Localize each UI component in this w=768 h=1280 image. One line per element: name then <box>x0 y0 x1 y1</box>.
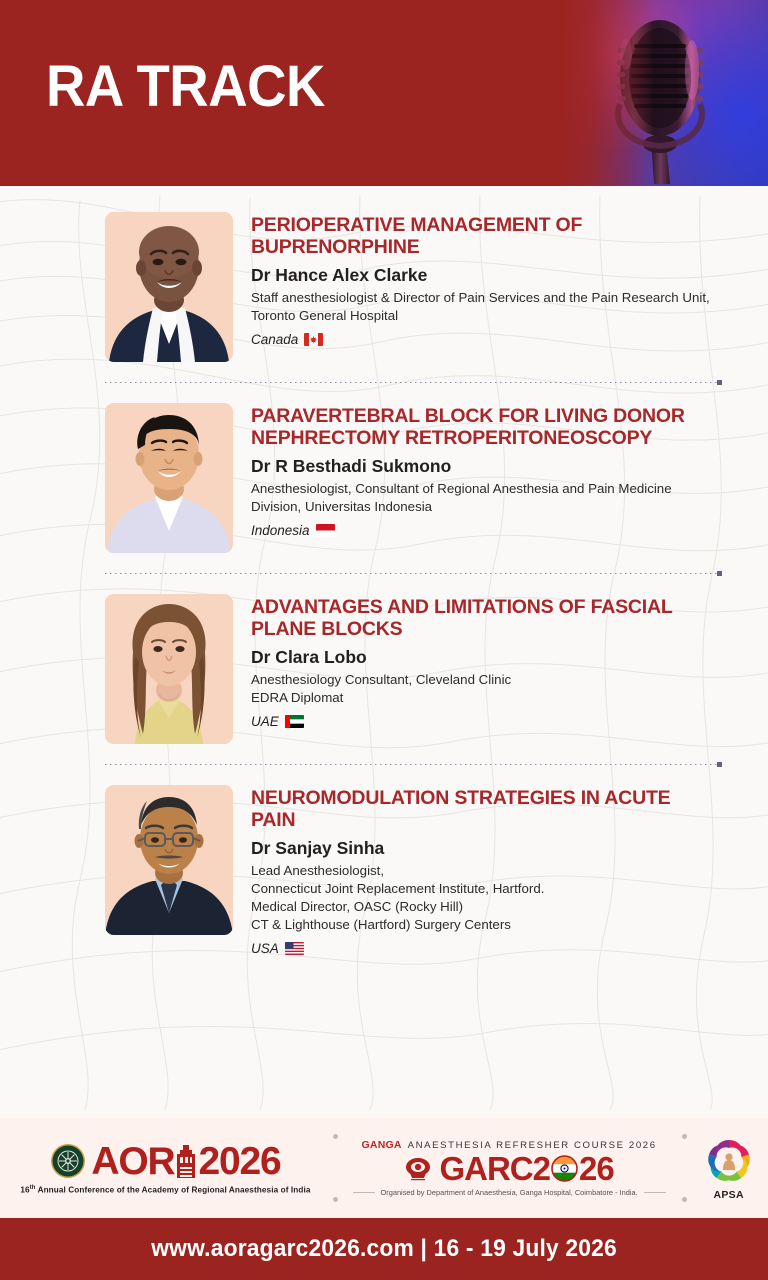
speaker-card: NEUROMODULATION STRATEGIES IN ACUTE PAIN… <box>0 785 768 956</box>
footer-url-bar: www.aoragarc2026.com | 16 - 19 July 2026 <box>0 1218 768 1280</box>
talk-title: NEUROMODULATION STRATEGIES IN ACUTE PAIN <box>251 787 720 831</box>
speaker-info: PARAVERTEBRAL BLOCK FOR LIVING DONOR NEP… <box>233 403 720 553</box>
garc-rule-right <box>644 1192 666 1193</box>
garc-wordmark-part1: GARC2 <box>439 1152 550 1185</box>
speaker-affiliation: Lead Anesthesiologist,Connecticut Joint … <box>251 862 720 933</box>
speaker-affiliation: Staff anesthesiologist & Director of Pai… <box>251 289 720 325</box>
aora-wordmark-part1: AOR <box>91 1142 174 1181</box>
garc-wordmark-part2: 26 <box>579 1152 614 1185</box>
microphone-icon <box>596 8 726 186</box>
country-label: USA <box>251 941 279 956</box>
speaker-country: UAE <box>251 714 720 729</box>
garc-tagline: ANAESTHESIA REFRESHER COURSE 2026 <box>408 1140 657 1151</box>
country-label: Canada <box>251 332 298 347</box>
avatar <box>105 785 233 935</box>
speaker-name: Dr Sanjay Sinha <box>251 838 720 860</box>
aora-wordmark-part2: 2026 <box>198 1142 280 1181</box>
aora-subtitle: 16th Annual Conference of the Academy of… <box>20 1185 310 1195</box>
avatar <box>105 403 233 553</box>
apsa-label: APSA <box>714 1189 744 1201</box>
speaker-affiliation: Anesthesiologist, Consultant of Regional… <box>251 480 720 516</box>
apsa-swirl-logo-icon <box>704 1136 754 1186</box>
footer-url-text: www.aoragarc2026.com | 16 - 19 July 2026 <box>151 1235 617 1263</box>
aora-seal-emblem-icon <box>50 1143 86 1179</box>
aora-wordmark: AOR 2026 <box>91 1142 280 1181</box>
section-divider <box>105 764 720 765</box>
ganga-word: GANGA <box>362 1139 402 1151</box>
aora-subtitle-text: Annual Conference of the Academy of Regi… <box>36 1185 311 1194</box>
speaker-name: Dr R Besthadi Sukmono <box>251 456 720 478</box>
aora-logo: AOR 2026 16th Annual Conf <box>0 1142 325 1195</box>
speaker-list: PERIOPERATIVE MANAGEMENT OF BUPRENORPHIN… <box>0 186 768 956</box>
header-banner: RA TRACK <box>0 0 768 186</box>
speaker-portrait-3 <box>105 594 233 744</box>
usa-flag-icon <box>285 942 304 955</box>
garc-logo: GANGA ANAESTHESIA REFRESHER COURSE 2026 … <box>345 1139 674 1197</box>
speaker-name: Dr Clara Lobo <box>251 647 720 669</box>
speaker-portrait-4 <box>105 785 233 935</box>
uae-flag-icon <box>285 715 304 728</box>
speaker-country: USA <box>251 941 720 956</box>
section-divider <box>105 573 720 574</box>
avatar <box>105 212 233 362</box>
speaker-card: ADVANTAGES AND LIMITATIONS OF FASCIAL PL… <box>0 594 768 744</box>
canada-flag-icon <box>304 333 323 346</box>
speaker-card: PARAVERTEBRAL BLOCK FOR LIVING DONOR NEP… <box>0 403 768 553</box>
country-label: Indonesia <box>251 523 310 538</box>
apsa-logo: APSA <box>694 1136 768 1201</box>
speaker-name: Dr Hance Alex Clarke <box>251 265 720 287</box>
speaker-portrait-1 <box>105 212 233 362</box>
garc-organised-by: Organised by Department of Anaesthesia, … <box>381 1188 638 1197</box>
avatar <box>105 594 233 744</box>
country-label: UAE <box>251 714 279 729</box>
garc-wordmark: GARC2 26 <box>439 1152 613 1185</box>
talk-title: ADVANTAGES AND LIMITATIONS OF FASCIAL PL… <box>251 596 720 640</box>
aora-tower-icon <box>175 1144 197 1178</box>
ganga-hospital-logo-icon <box>404 1156 432 1182</box>
garc-rule-left <box>353 1192 375 1193</box>
speaker-info: NEUROMODULATION STRATEGIES IN ACUTE PAIN… <box>233 785 720 956</box>
aora-subtitle-prefix: 16 <box>20 1185 29 1194</box>
section-divider <box>105 382 720 383</box>
speaker-affiliation: Anesthesiology Consultant, Cleveland Cli… <box>251 671 720 707</box>
speaker-portrait-2 <box>105 403 233 553</box>
speaker-card: PERIOPERATIVE MANAGEMENT OF BUPRENORPHIN… <box>0 212 768 362</box>
banner-microphone-photo <box>558 0 768 186</box>
talk-title: PERIOPERATIVE MANAGEMENT OF BUPRENORPHIN… <box>251 214 720 258</box>
speaker-info: PERIOPERATIVE MANAGEMENT OF BUPRENORPHIN… <box>233 212 720 362</box>
speaker-country: Indonesia <box>251 523 720 538</box>
indonesia-flag-icon <box>316 524 335 537</box>
india-flag-roundel-icon <box>551 1155 578 1182</box>
page-title: RA TRACK <box>46 58 325 116</box>
speaker-country: Canada <box>251 332 720 347</box>
footer-logo-band: AOR 2026 16th Annual Conf <box>0 1118 768 1218</box>
talk-title: PARAVERTEBRAL BLOCK FOR LIVING DONOR NEP… <box>251 405 720 449</box>
speaker-info: ADVANTAGES AND LIMITATIONS OF FASCIAL PL… <box>233 594 720 744</box>
